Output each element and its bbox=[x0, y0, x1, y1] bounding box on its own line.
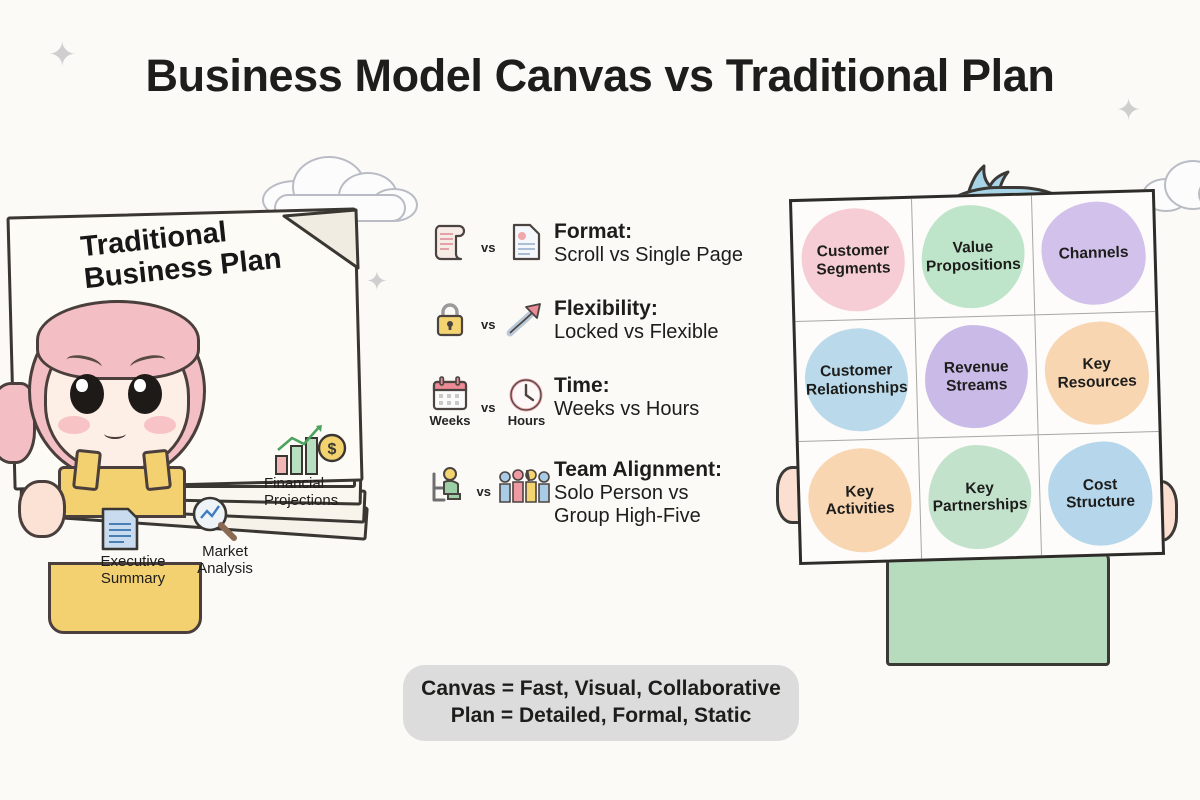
comparison-title-format: Format: bbox=[554, 220, 743, 244]
executive-summary-icon bbox=[100, 506, 140, 552]
curved-arrow-icon bbox=[506, 299, 546, 339]
financial-projections-label: Financial Projections bbox=[264, 476, 356, 510]
comparison-title-team-alignment: Team Alignment: bbox=[554, 458, 722, 482]
person-sitting-icon bbox=[428, 466, 468, 506]
comparison-list: vs Format: Scroll vs Single Page bbox=[424, 218, 784, 557]
vs-label-time: vs bbox=[481, 390, 495, 415]
summary-callout: Canvas = Fast, Visual, Collaborative Pla… bbox=[403, 665, 799, 741]
comparison-row-format: vs Format: Scroll vs Single Page bbox=[424, 218, 784, 267]
scroll-icon bbox=[433, 222, 467, 262]
canvas-cell-revenue-streams[interactable]: Revenue Streams bbox=[915, 315, 1038, 438]
summary-line-canvas: Canvas = Fast, Visual, Collaborative bbox=[421, 676, 781, 703]
comparison-desc-time: Weeks vs Hours bbox=[554, 398, 699, 421]
comparison-row-time: Weeks vs Hours Time: Weeks vs Hours bbox=[424, 372, 784, 428]
canvas-cell-key-activities[interactable]: Key Activities bbox=[799, 439, 922, 562]
character-eye-right bbox=[128, 374, 162, 414]
right-scene-business-model-canvas: Customer Segments Value Propositions Cha… bbox=[770, 150, 1200, 800]
clock-icon-label: Hours bbox=[508, 413, 546, 428]
vs-label-team: vs bbox=[477, 474, 491, 499]
character-shirt bbox=[886, 550, 1110, 666]
comparison-title-time: Time: bbox=[554, 374, 699, 398]
comparison-row-flexibility: vs Flexibility: Locked vs Flexible bbox=[424, 295, 784, 344]
left-scene-traditional-plan: Traditional Business Plan bbox=[0, 150, 400, 710]
infographic-canvas: ✦ ✦ ✦ Business Model Canvas vs Tradition… bbox=[0, 0, 1200, 800]
summary-line-plan: Plan = Detailed, Formal, Static bbox=[451, 703, 752, 730]
canvas-cell-key-resources[interactable]: Key Resources bbox=[1035, 312, 1158, 435]
calendar-icon-label: Weeks bbox=[430, 413, 471, 428]
comparison-desc-team-alignment-line1: Solo Person vs bbox=[554, 482, 722, 505]
canvas-cell-key-partnerships[interactable]: Key Partnerships bbox=[919, 435, 1042, 558]
canvas-cell-channels[interactable]: Channels bbox=[1032, 192, 1155, 315]
business-model-canvas-grid[interactable]: Customer Segments Value Propositions Cha… bbox=[789, 189, 1165, 565]
comparison-row-team-alignment: vs bbox=[424, 456, 784, 528]
comparison-title-flexibility: Flexibility: bbox=[554, 297, 719, 321]
market-analysis-icon bbox=[188, 492, 240, 544]
character-hand bbox=[18, 480, 66, 538]
page-icon bbox=[510, 222, 542, 262]
vs-label-flexibility: vs bbox=[481, 307, 495, 332]
market-analysis-label: Market Analysis bbox=[186, 544, 264, 578]
comparison-desc-team-alignment-line2: Group High-Five bbox=[554, 505, 722, 528]
group-people-icon bbox=[496, 466, 554, 506]
calendar-icon bbox=[431, 376, 469, 412]
svg-text:$: $ bbox=[328, 441, 337, 458]
comparison-desc-format: Scroll vs Single Page bbox=[554, 244, 743, 267]
canvas-cell-customer-segments[interactable]: Customer Segments bbox=[792, 199, 915, 322]
financial-projections-icon: $ bbox=[272, 422, 348, 480]
comparison-desc-flexibility: Locked vs Flexible bbox=[554, 321, 719, 344]
character-eye-left bbox=[70, 374, 104, 414]
clock-icon bbox=[507, 376, 545, 412]
page-title: Business Model Canvas vs Traditional Pla… bbox=[0, 50, 1200, 102]
canvas-cell-customer-relationships[interactable]: Customer Relationships bbox=[795, 319, 918, 442]
canvas-cell-cost-structure[interactable]: Cost Structure bbox=[1039, 432, 1162, 555]
lock-icon bbox=[434, 299, 466, 339]
canvas-cell-value-propositions[interactable]: Value Propositions bbox=[912, 195, 1035, 318]
executive-summary-label: Executive Summary bbox=[92, 554, 174, 588]
vs-label-format: vs bbox=[481, 230, 495, 255]
folded-corner-icon bbox=[278, 208, 364, 278]
